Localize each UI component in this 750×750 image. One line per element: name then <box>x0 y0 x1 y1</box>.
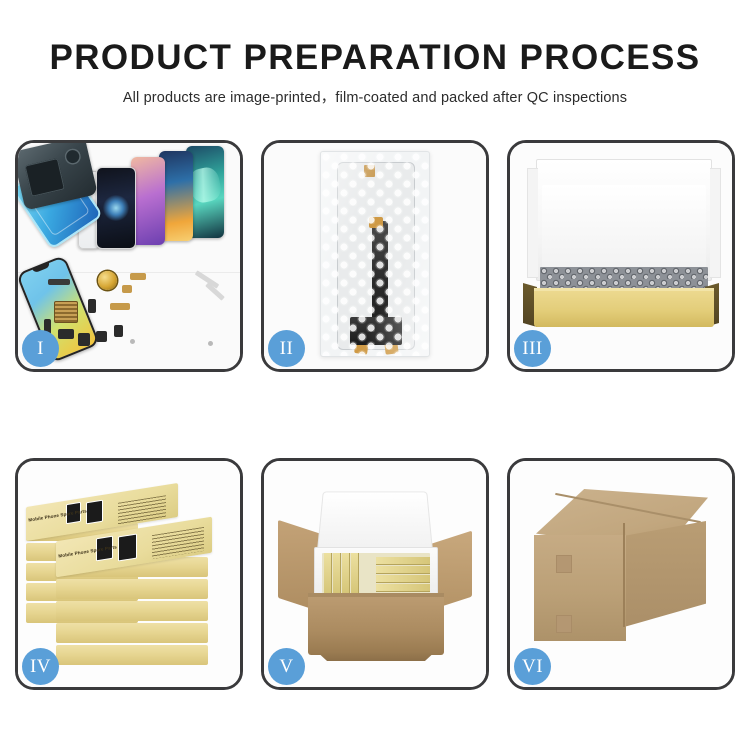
step-panel-6[interactable]: VI <box>507 458 735 690</box>
stacked-box-fr-5 <box>56 645 208 665</box>
sealed-carton-front-panel <box>534 535 626 641</box>
packed-box-3 <box>342 553 349 593</box>
foam-box-lid <box>317 491 433 551</box>
page-title: PRODUCT PREPARATION PROCESS <box>0 38 750 77</box>
spare-part-screw-b <box>208 341 213 346</box>
phone-dark-display <box>96 167 136 249</box>
step-panel-3[interactable]: III <box>507 140 735 372</box>
stacked-box-fr-2 <box>56 579 208 599</box>
spare-part-connector-strip <box>110 303 130 310</box>
spare-part-vibrator <box>96 331 107 342</box>
spare-part-connector <box>48 279 70 285</box>
step-badge-6: VI <box>514 648 551 685</box>
spare-part-camera <box>78 333 90 346</box>
white-foam-sheet <box>542 185 706 271</box>
carton-front-panel <box>308 597 444 655</box>
foam-box-contents <box>322 553 430 593</box>
spare-part-screw-a <box>130 339 135 344</box>
step-badge-1: I <box>22 330 59 367</box>
sealed-carton-vertical-edge <box>623 523 625 627</box>
spare-part-ic-chip <box>54 301 78 323</box>
stacked-box-fr-3 <box>56 601 208 621</box>
page-subtitle: All products are image-printed，film-coat… <box>0 86 750 107</box>
spare-part-flex-cable <box>130 273 146 280</box>
spare-part-sim-tray <box>114 325 123 337</box>
step-panel-4[interactable]: Mobile Phone Spare Parts Mobile Phone Sp… <box>15 458 243 690</box>
process-step-grid: I II <box>15 140 735 690</box>
speaker-coil-part <box>98 271 117 290</box>
plastic-sheen <box>321 152 429 356</box>
box-lid-back-window-b <box>86 500 103 525</box>
page-header: PRODUCT PREPARATION PROCESS All products… <box>0 38 750 107</box>
packed-box-1 <box>324 553 331 593</box>
packed-box-7 <box>376 566 430 573</box>
step-panel-5[interactable]: V <box>261 458 489 690</box>
packed-box-5 <box>376 584 430 591</box>
spare-part-module <box>58 329 74 339</box>
phone-purple-gradient <box>131 157 165 245</box>
step-badge-4: IV <box>22 648 59 685</box>
packed-box-8 <box>376 557 430 564</box>
step-panel-1[interactable]: I <box>15 140 243 372</box>
sealed-carton-tab-upper <box>556 555 572 573</box>
carton-bottom-taper <box>308 651 444 661</box>
box-lid-front-window-b <box>118 533 137 561</box>
spare-part-flex-tab <box>122 285 132 293</box>
bubble-wrap-bag <box>320 151 430 357</box>
step-panel-2[interactable]: II <box>261 140 489 372</box>
step-badge-5: V <box>268 648 305 685</box>
step-badge-3: III <box>514 330 551 367</box>
product-preparation-page: PRODUCT PREPARATION PROCESS All products… <box>0 0 750 750</box>
packed-box-2 <box>333 553 340 593</box>
spare-part-button <box>88 299 96 313</box>
step-badge-2: II <box>268 330 305 367</box>
sealed-carton-tab-lower <box>556 615 572 633</box>
packed-box-4 <box>351 553 358 593</box>
stacked-box-fr-4 <box>56 623 208 643</box>
inner-box-front-panel <box>534 291 714 327</box>
packed-box-6 <box>376 575 430 582</box>
